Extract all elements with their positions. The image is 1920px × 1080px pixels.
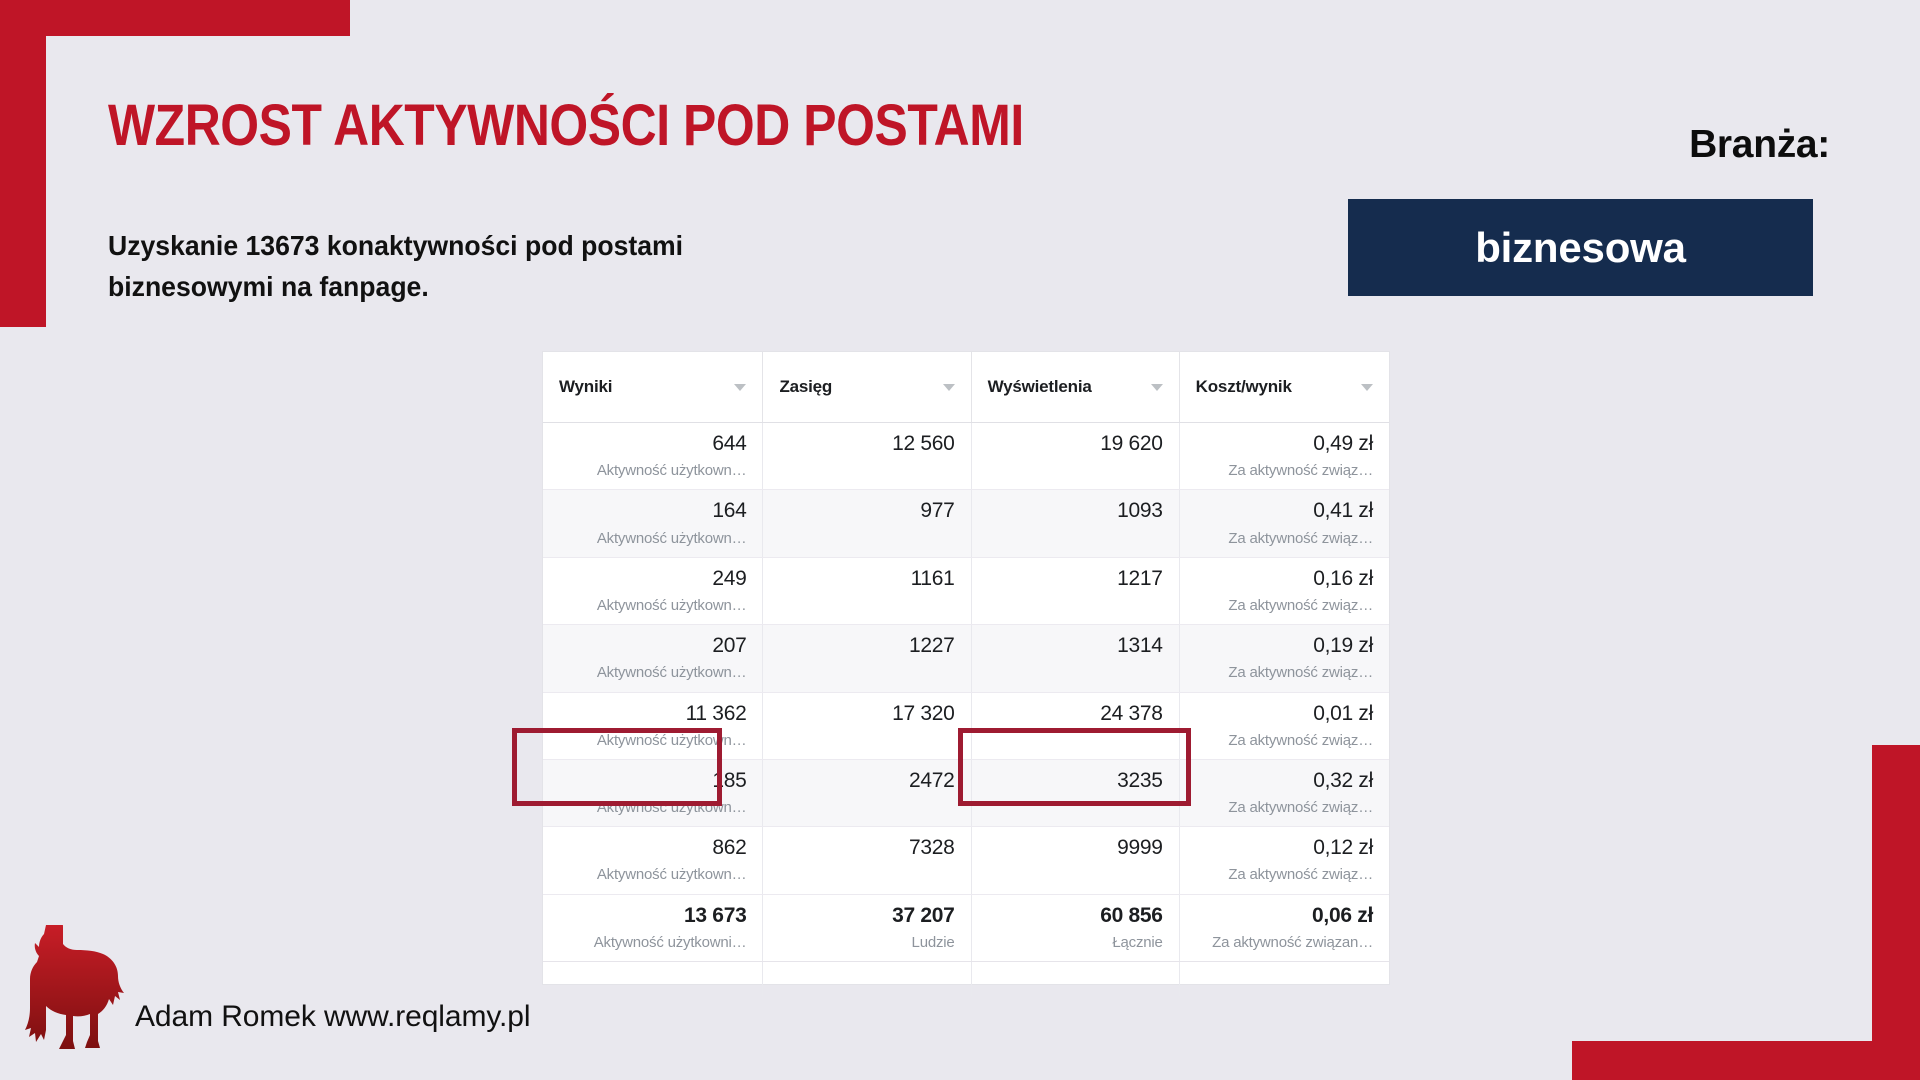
cell-value: 0,41 zł (1196, 499, 1373, 523)
table-cell: 1093 (971, 490, 1179, 557)
chevron-down-icon[interactable] (1151, 384, 1163, 391)
cell-subtext: Aktywność użytkown… (559, 866, 746, 883)
table-cell: 0,41 złZa aktywność związ… (1179, 490, 1389, 557)
cell-subtext: Aktywność użytkowni… (559, 934, 746, 951)
table-cell: 3235 (971, 759, 1179, 826)
cell-value: 185 (559, 769, 746, 793)
cell-subtext: Za aktywność związ… (1196, 866, 1373, 883)
column-header-label: Wyniki (559, 377, 612, 397)
ads-results-table: Wyniki Zasięg Wyświetlenia (543, 352, 1389, 984)
table-cell: 12 560 (763, 423, 971, 490)
table-cell: 977 (763, 490, 971, 557)
llama-logo-icon (16, 925, 126, 1073)
page-title: WZROST AKTYWNOŚCI POD POSTAMI (108, 97, 1024, 155)
cell-subtext: Aktywność użytkown… (559, 597, 746, 614)
cell-value: 0,06 zł (1196, 904, 1373, 928)
cell-subtext: Aktywność użytkown… (559, 462, 746, 479)
cell-value: 3235 (988, 769, 1163, 793)
cell-subtext: Za aktywność związ… (1196, 664, 1373, 681)
table-row[interactable]: 249Aktywność użytkown…116112170,16 złZa … (543, 557, 1389, 624)
table-cell: 2472 (763, 759, 971, 826)
cell-value: 13 673 (559, 904, 746, 928)
column-header-koszt-wynik[interactable]: Koszt/wynik (1179, 352, 1389, 423)
cell-value: 164 (559, 499, 746, 523)
table-cell: 249Aktywność użytkown… (543, 557, 763, 624)
cell-subtext: Za aktywność związ… (1196, 597, 1373, 614)
table-cell: 7328 (763, 827, 971, 894)
table-cell: 60 856Łącznie (971, 894, 1179, 961)
cell-value: 0,16 zł (1196, 567, 1373, 591)
table-cell: 13 673Aktywność użytkowni… (543, 894, 763, 961)
cell-value: 24 378 (988, 702, 1163, 726)
table-cell: 0,32 złZa aktywność związ… (1179, 759, 1389, 826)
cell-value: 1217 (988, 567, 1163, 591)
cell-value: 1161 (779, 567, 954, 591)
table-row[interactable]: 644Aktywność użytkown…12 56019 6200,49 z… (543, 423, 1389, 490)
cell-subtext: Aktywność użytkown… (559, 799, 746, 816)
table-cell: 1161 (763, 557, 971, 624)
table-cell: 185Aktywność użytkown… (543, 759, 763, 826)
table-cell: 1217 (971, 557, 1179, 624)
cell-value: 0,32 zł (1196, 769, 1373, 793)
decoration-right-vertical (1872, 745, 1920, 1080)
column-header-label: Zasięg (779, 377, 832, 397)
cell-value: 0,12 zł (1196, 836, 1373, 860)
cell-value: 12 560 (779, 432, 954, 456)
cell-subtext: Aktywność użytkown… (559, 664, 746, 681)
table-cell: 1314 (971, 625, 1179, 692)
column-header-wyswietlenia[interactable]: Wyświetlenia (971, 352, 1179, 423)
table-cell: 9999 (971, 827, 1179, 894)
cell-subtext: Za aktywność związan… (1196, 934, 1373, 951)
table-row-empty (543, 962, 1389, 996)
table-cell-empty (971, 962, 1179, 996)
table-cell-empty (763, 962, 971, 996)
cell-value: 862 (559, 836, 746, 860)
table-cell: 0,19 złZa aktywność związ… (1179, 625, 1389, 692)
cell-value: 249 (559, 567, 746, 591)
cell-subtext: Łącznie (988, 934, 1163, 951)
decoration-top-left-vertical (0, 0, 46, 327)
cell-value: 19 620 (988, 432, 1163, 456)
table-row[interactable]: 185Aktywność użytkown…247232350,32 złZa … (543, 759, 1389, 826)
table-cell: 0,12 złZa aktywność związ… (1179, 827, 1389, 894)
table-cell: 24 378 (971, 692, 1179, 759)
cell-subtext: Aktywność użytkown… (559, 530, 746, 547)
table-cell: 11 362Aktywność użytkown… (543, 692, 763, 759)
cell-value: 1314 (988, 634, 1163, 658)
table-header-row: Wyniki Zasięg Wyświetlenia (543, 352, 1389, 423)
table-cell: 1227 (763, 625, 971, 692)
cell-subtext: Aktywność użytkown… (559, 732, 746, 749)
table-total-row[interactable]: 13 673Aktywność użytkowni…37 207Ludzie60… (543, 894, 1389, 961)
industry-badge: biznesowa (1348, 199, 1813, 296)
table-cell: 862Aktywność użytkown… (543, 827, 763, 894)
column-header-zasieg[interactable]: Zasięg (763, 352, 971, 423)
cell-value: 1227 (779, 634, 954, 658)
chevron-down-icon[interactable] (1361, 384, 1373, 391)
table-cell: 644Aktywność użytkown… (543, 423, 763, 490)
cell-value: 0,49 zł (1196, 432, 1373, 456)
page-subtitle: Uzyskanie 13673 konaktywności pod postam… (108, 226, 683, 307)
cell-value: 0,01 zł (1196, 702, 1373, 726)
table-cell: 164Aktywność użytkown… (543, 490, 763, 557)
cell-value: 0,19 zł (1196, 634, 1373, 658)
decoration-top-left-horizontal (0, 0, 350, 36)
cell-subtext: Za aktywność związ… (1196, 530, 1373, 547)
column-header-wyniki[interactable]: Wyniki (543, 352, 763, 423)
table-cell: 17 320 (763, 692, 971, 759)
cell-value: 11 362 (559, 702, 746, 726)
cell-value: 1093 (988, 499, 1163, 523)
table-row[interactable]: 164Aktywność użytkown…97710930,41 złZa a… (543, 490, 1389, 557)
table-row[interactable]: 207Aktywność użytkown…122713140,19 złZa … (543, 625, 1389, 692)
table-cell: 19 620 (971, 423, 1179, 490)
cell-value: 60 856 (988, 904, 1163, 928)
table-cell-empty (543, 962, 763, 996)
table-cell: 207Aktywność użytkown… (543, 625, 763, 692)
chevron-down-icon[interactable] (734, 384, 746, 391)
table-cell-empty (1179, 962, 1389, 996)
cell-value: 977 (779, 499, 954, 523)
cell-subtext: Ludzie (779, 934, 954, 951)
footer-author: Adam Romek www.reqlamy.pl (135, 1000, 530, 1034)
table-cell: 0,49 złZa aktywność związ… (1179, 423, 1389, 490)
cell-value: 2472 (779, 769, 954, 793)
table-cell: 0,06 złZa aktywność związan… (1179, 894, 1389, 961)
cell-value: 9999 (988, 836, 1163, 860)
cell-value: 37 207 (779, 904, 954, 928)
table-row[interactable]: 862Aktywność użytkown…732899990,12 złZa … (543, 827, 1389, 894)
cell-value: 17 320 (779, 702, 954, 726)
industry-badge-value: biznesowa (1475, 224, 1686, 272)
industry-label: Branża: (1689, 123, 1830, 167)
cell-subtext: Za aktywność związ… (1196, 799, 1373, 816)
table-row[interactable]: 11 362Aktywność użytkown…17 32024 3780,0… (543, 692, 1389, 759)
column-header-label: Koszt/wynik (1196, 377, 1292, 397)
cell-value: 644 (559, 432, 746, 456)
cell-value: 7328 (779, 836, 954, 860)
table-cell: 0,01 złZa aktywność związ… (1179, 692, 1389, 759)
decoration-bottom-right-horizontal (1572, 1041, 1920, 1080)
table-cell: 37 207Ludzie (763, 894, 971, 961)
chevron-down-icon[interactable] (943, 384, 955, 391)
cell-subtext: Za aktywność związ… (1196, 462, 1373, 479)
cell-value: 207 (559, 634, 746, 658)
table-cell: 0,16 złZa aktywność związ… (1179, 557, 1389, 624)
column-header-label: Wyświetlenia (988, 377, 1092, 397)
cell-subtext: Za aktywność związ… (1196, 732, 1373, 749)
